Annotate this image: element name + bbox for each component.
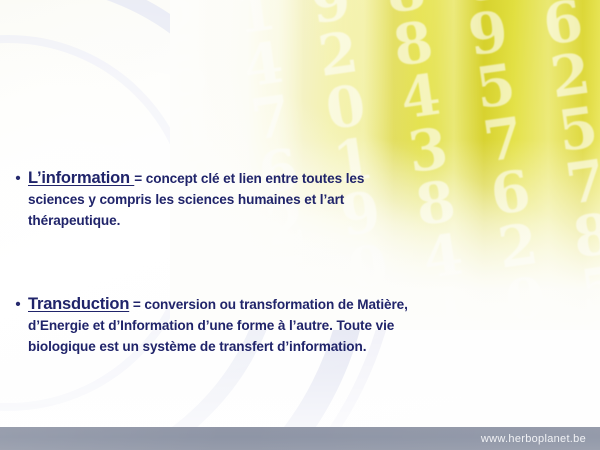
bullet-text: Transduction = conversion ou transformat… bbox=[28, 294, 408, 357]
slide-footer-bar: www.herboplanet.be bbox=[0, 427, 600, 450]
footer-website-url: www.herboplanet.be bbox=[481, 433, 586, 445]
bullet-marker: • bbox=[8, 294, 28, 315]
bullet-item-information: • L’information = concept clé et lien en… bbox=[8, 168, 408, 231]
presentation-slide: 3 2 1 9 8 6 7 0 5 4 2 8 9 6 3 1 7 0 4 5 … bbox=[0, 0, 600, 450]
bullet-marker: • bbox=[8, 168, 28, 189]
bullet-text: L’information = concept clé et lien entr… bbox=[28, 168, 408, 231]
bullet-term: Transduction bbox=[28, 295, 129, 313]
bullet-item-transduction: • Transduction = conversion ou transform… bbox=[8, 294, 408, 357]
slide-content: • L’information = concept clé et lien en… bbox=[0, 0, 600, 450]
bullet-term: L’information bbox=[28, 169, 134, 187]
